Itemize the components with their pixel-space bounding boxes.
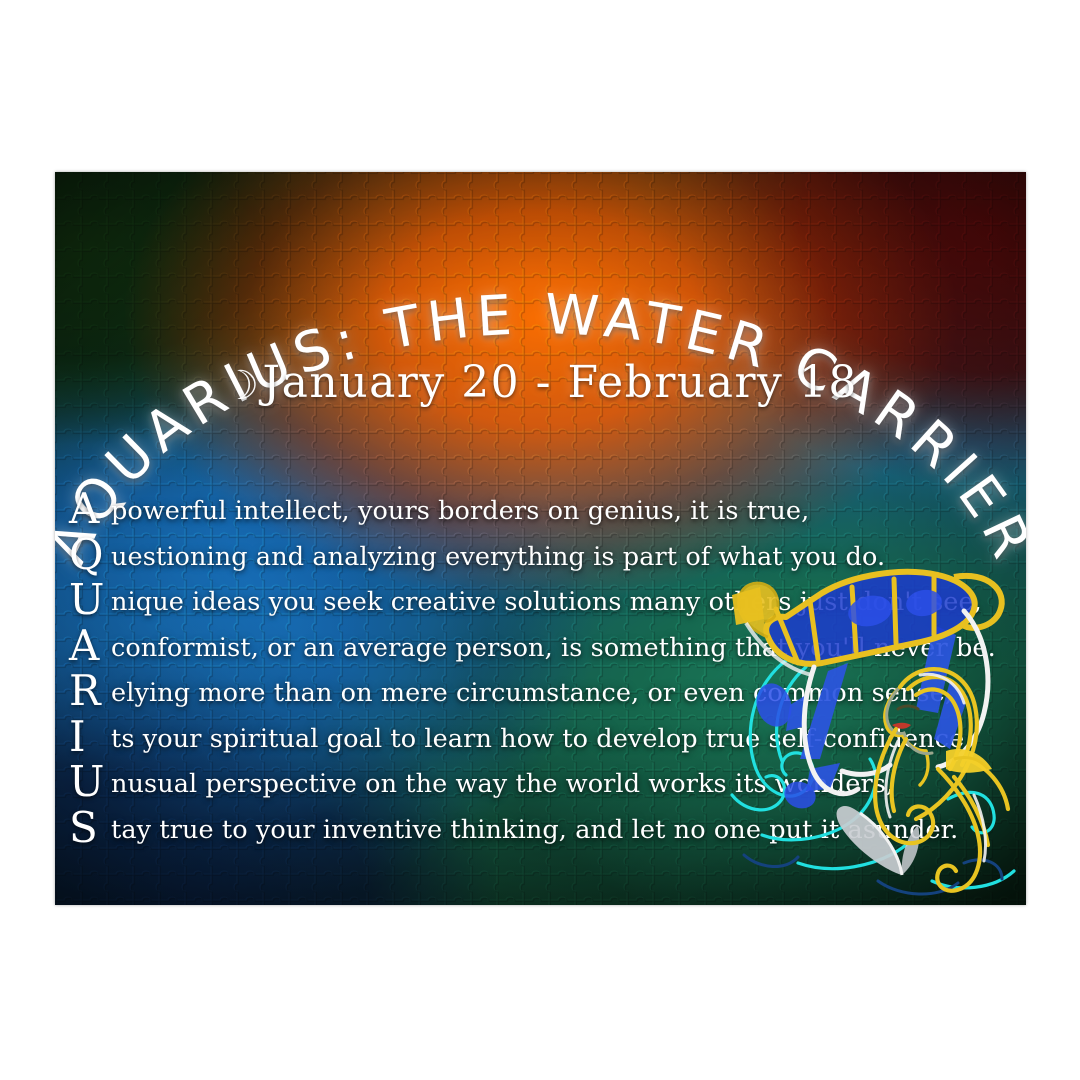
poem-line-text: conformist, or an average person, is som…	[111, 633, 996, 663]
poem-line: U nusual perspective on the way the worl…	[69, 757, 769, 803]
date-range: ☽January 20 - February 18	[55, 357, 1026, 408]
poem-line-text: uestioning and analyzing everything is p…	[111, 542, 885, 572]
drop-cap-i: I	[69, 716, 111, 758]
poem-line-text: nique ideas you seek creative solutions …	[111, 587, 982, 617]
drop-cap-a2: A	[69, 625, 111, 667]
drop-cap-a1: A	[69, 488, 111, 530]
drop-cap-s: S	[69, 807, 111, 849]
drop-cap-r: R	[69, 670, 111, 712]
date-range-text: January 20 - February 18	[263, 357, 858, 408]
poem-line: S tay true to your inventive thinking, a…	[69, 803, 769, 849]
drop-cap-u1: U	[69, 579, 111, 621]
poem-line: Q uestioning and analyzing everything is…	[69, 530, 769, 576]
drop-cap-q: Q	[69, 534, 111, 576]
poem-line-text: powerful intellect, yours borders on gen…	[111, 496, 809, 526]
poem-line: U nique ideas you seek creative solution…	[69, 575, 769, 621]
moon-glyph-icon: ☽	[223, 363, 260, 409]
poem-line-text: ts your spiritual goal to learn how to d…	[111, 724, 973, 754]
poem-line-text: elying more than on mere circumstance, o…	[111, 678, 953, 708]
poem-line-text: nusual perspective on the way the world …	[111, 769, 894, 799]
poem-line: R elying more than on mere circumstance,…	[69, 666, 769, 712]
page-canvas: AQUARIUS: THE WATER CARRIER ☽January 20 …	[0, 0, 1080, 1080]
poem-line-text: tay true to your inventive thinking, and…	[111, 815, 958, 845]
puzzle-board: AQUARIUS: THE WATER CARRIER ☽January 20 …	[55, 172, 1026, 905]
poem-line: A powerful intellect, yours borders on g…	[69, 484, 769, 530]
poem-line: I ts your spiritual goal to learn how to…	[69, 712, 769, 758]
poem-line: A conformist, or an average person, is s…	[69, 621, 769, 667]
drop-cap-u2: U	[69, 761, 111, 803]
poem-block: A powerful intellect, yours borders on g…	[69, 484, 769, 848]
